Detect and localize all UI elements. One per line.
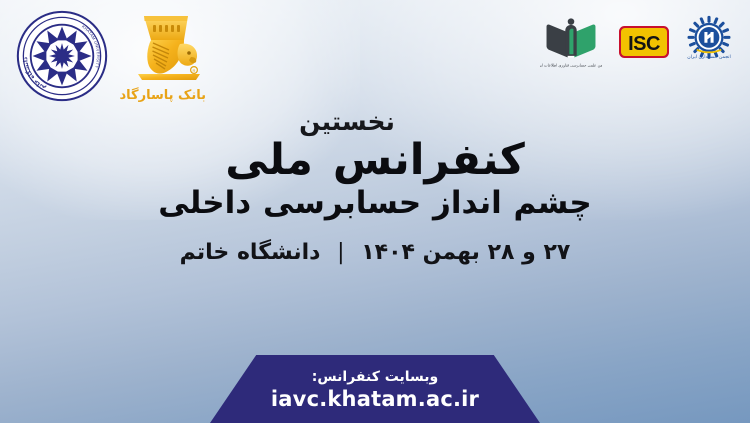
open-book-icon: انجمن علمی حسابرسی فناوری اطلاعات ایران <box>540 15 602 69</box>
isc-badge-icon: ISC <box>618 25 670 59</box>
left-logo-group: R بانک پاسارگاد <box>16 10 206 106</box>
iranian-auditors-association-logo: انجمن علمی حسابرسی فناوری اطلاعات ایران <box>540 15 602 73</box>
accounting-association-logo: انجمن حسابداری ایران <box>686 14 732 74</box>
bank-pasargad-logo: R بانک پاسارگاد <box>122 10 206 102</box>
conference-subhead: چشم انداز حسابرسی داخلی <box>0 185 750 222</box>
right-logo-group: انجمن حسابداری ایران ISC <box>540 14 732 74</box>
conference-venue: دانشگاه خاتم <box>180 240 321 265</box>
isc-label: ISC <box>628 33 660 55</box>
website-banner[interactable]: وبسایت کنفرانس: iavc.khatam.ac.ir <box>210 355 540 423</box>
accounting-association-caption: انجمن حسابداری ایران <box>687 55 730 60</box>
meta-separator: | <box>337 240 344 266</box>
khatam-university-logo: دانشگاه خاتم KHATAM UNIVERSITY <box>16 10 108 106</box>
conference-date: ۲۷ و ۲۸ بهمن ۱۴۰۴ <box>361 240 570 265</box>
conference-headline: کنفرانس ملی <box>0 137 750 183</box>
title-block: نخستین کنفرانس ملی چشم انداز حسابرسی داخ… <box>0 108 750 266</box>
svg-text:R: R <box>193 68 196 73</box>
gear-emblem-icon: انجمن حسابداری ایران <box>686 14 732 70</box>
iranian-auditors-association-caption: انجمن علمی حسابرسی فناوری اطلاعات ایران <box>540 63 602 67</box>
website-label: وبسایت کنفرانس: <box>312 369 439 386</box>
conference-meta: ۲۷ و ۲۸ بهمن ۱۴۰۴ | دانشگاه خاتم <box>0 240 750 266</box>
khatam-seal-icon: دانشگاه خاتم KHATAM UNIVERSITY <box>16 10 108 102</box>
isc-logo: ISC <box>618 25 670 63</box>
conference-poster: R بانک پاسارگاد <box>0 0 750 423</box>
conference-eyebrow: نخستین <box>0 108 750 136</box>
pasargad-rhyton-icon: R <box>122 10 206 88</box>
website-url[interactable]: iavc.khatam.ac.ir <box>271 386 479 412</box>
bank-pasargad-caption: بانک پاسارگاد <box>122 89 206 102</box>
